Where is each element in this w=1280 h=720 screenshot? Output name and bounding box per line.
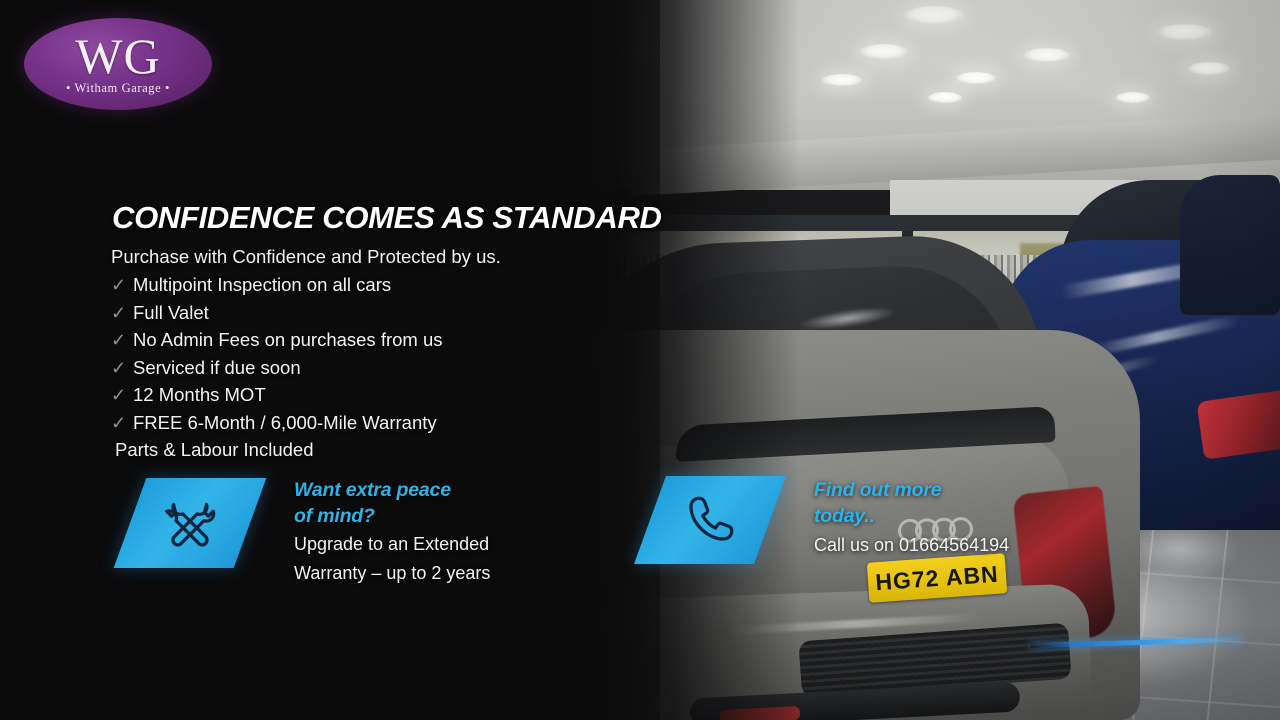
list-item: ✓ No Admin Fees on purchases from us bbox=[111, 329, 631, 357]
check-icon: ✓ bbox=[111, 276, 133, 294]
list-item-label: Parts & Labour Included bbox=[115, 439, 314, 461]
witham-garage-logo: WG • Witham Garage • bbox=[24, 18, 212, 110]
list-item: ✓ Multipoint Inspection on all cars bbox=[111, 274, 631, 302]
list-item-label: Multipoint Inspection on all cars bbox=[133, 274, 391, 296]
list-item-label: 12 Months MOT bbox=[133, 384, 266, 406]
promo-text-block: Want extra peace of mind? Upgrade to an … bbox=[294, 478, 490, 587]
page-subtitle: Purchase with Confidence and Protected b… bbox=[111, 246, 501, 268]
benefits-list: ✓ Multipoint Inspection on all cars ✓ Fu… bbox=[111, 274, 631, 467]
list-item: ✓ Full Valet bbox=[111, 302, 631, 330]
list-item: Parts & Labour Included bbox=[111, 439, 631, 467]
check-icon: ✓ bbox=[111, 386, 133, 404]
check-icon: ✓ bbox=[111, 414, 133, 432]
promo-body-line2: Warranty – up to 2 years bbox=[294, 559, 490, 587]
list-item-label: Serviced if due soon bbox=[133, 357, 301, 379]
page-title: CONFIDENCE COMES AS STANDARD bbox=[112, 200, 662, 236]
showroom-photo: HG72 ABN bbox=[560, 0, 1280, 720]
logo-monogram: WG bbox=[75, 33, 160, 80]
logo-wordmark: • Witham Garage • bbox=[66, 81, 170, 96]
promo-heading: Find out more today.. bbox=[814, 478, 1009, 530]
list-item: ✓ 12 Months MOT bbox=[111, 384, 631, 412]
list-item: ✓ Serviced if due soon bbox=[111, 357, 631, 385]
promo-body-line1: Upgrade to an Extended bbox=[294, 530, 490, 558]
promo-heading-line2: of mind? bbox=[294, 504, 490, 530]
check-icon: ✓ bbox=[111, 304, 133, 322]
check-icon: ✓ bbox=[111, 359, 133, 377]
promo-heading-line1: Want extra peace bbox=[294, 478, 490, 504]
promo-heading: Want extra peace of mind? bbox=[294, 478, 490, 529]
list-item-label: Full Valet bbox=[133, 302, 209, 324]
list-item-label: FREE 6-Month / 6,000-Mile Warranty bbox=[133, 412, 437, 434]
list-item: ✓ FREE 6-Month / 6,000-Mile Warranty bbox=[111, 412, 631, 440]
promo-contact[interactable]: Find out more today.. Call us on 0166456… bbox=[636, 472, 1066, 582]
wrench-tools-icon bbox=[114, 478, 267, 568]
promo-heading-line1: Find out more bbox=[814, 478, 1009, 504]
promo-body: Upgrade to an Extended Warranty – up to … bbox=[294, 530, 490, 586]
phone-handset-icon bbox=[634, 476, 786, 564]
phone-number-label[interactable]: Call us on 01664564194 bbox=[814, 531, 1009, 559]
promo-body: Call us on 01664564194 bbox=[814, 531, 1009, 559]
promo-banner: HG72 ABN WG • Witham Garage • CONFIDENCE… bbox=[0, 0, 1280, 720]
promo-text-block: Find out more today.. Call us on 0166456… bbox=[814, 478, 1009, 559]
check-icon: ✓ bbox=[111, 331, 133, 349]
promo-extended-warranty[interactable]: Want extra peace of mind? Upgrade to an … bbox=[112, 472, 582, 592]
promo-heading-line2: today.. bbox=[814, 504, 1009, 530]
list-item-label: No Admin Fees on purchases from us bbox=[133, 329, 443, 351]
